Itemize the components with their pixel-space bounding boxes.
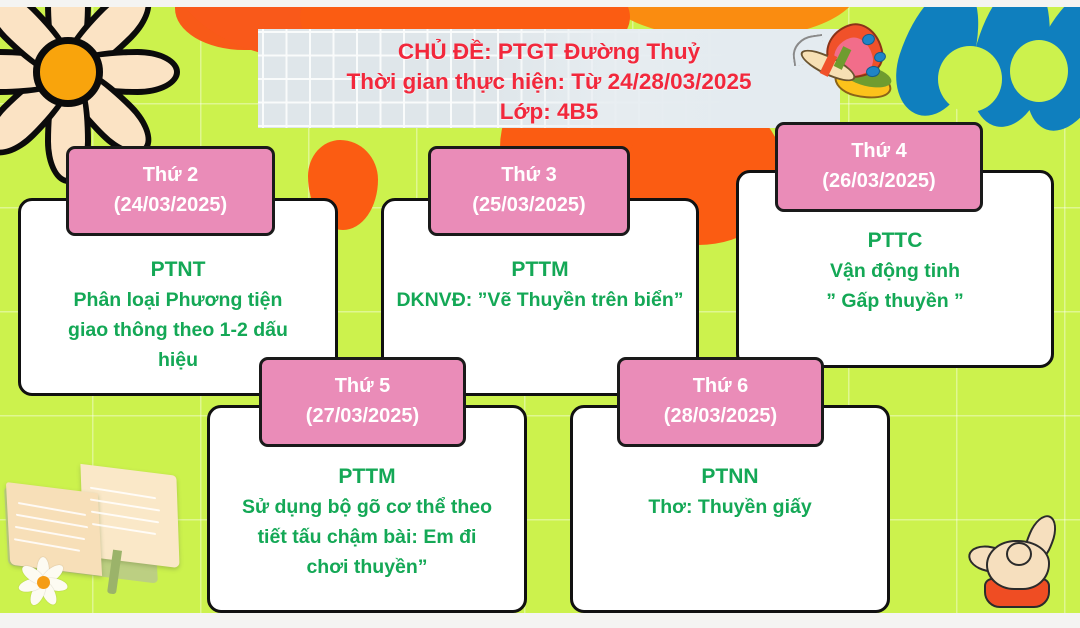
blue-petal-notch (938, 46, 1002, 112)
activity-title: PTNT (18, 255, 338, 285)
date-label: (27/03/2025) (262, 401, 463, 431)
day-card-content: PTTM DKNVĐ: ”Vẽ Thuyền trên biển” (375, 255, 705, 315)
open-book-icon (6, 466, 178, 586)
day-card-header-thu-2[interactable]: Thứ 2 (24/03/2025) (66, 146, 275, 236)
activity-line: ” Gấp thuyền ” (736, 286, 1054, 316)
day-label: Thứ 3 (431, 160, 627, 190)
banner-line-timeframe: Thời gian thực hiện: Từ 24/28/03/2025 (258, 67, 840, 97)
banner-line-class: Lớp: 4B5 (258, 97, 840, 127)
activity-line: chơi thuyền” (200, 552, 534, 582)
day-card-header-thu-6[interactable]: Thứ 6 (28/03/2025) (617, 357, 824, 447)
day-label: Thứ 5 (262, 371, 463, 401)
day-label: Thứ 2 (69, 160, 272, 190)
day-card-header-thu-3[interactable]: Thứ 3 (25/03/2025) (428, 146, 630, 236)
activity-line: DKNVĐ: ”Vẽ Thuyền trên biển” (375, 285, 705, 315)
activity-title: PTTM (375, 255, 705, 285)
bottom-edge-strip (0, 613, 1080, 628)
activity-title: PTTM (200, 462, 534, 492)
day-card-content: PTTC Vận động tinh ” Gấp thuyền ” (736, 226, 1054, 316)
activity-title: PTTC (736, 226, 1054, 256)
date-label: (25/03/2025) (431, 190, 627, 220)
banner-text-block: CHỦ ĐỀ: PTGT Đường Thuỷ Thời gian thực h… (258, 37, 840, 127)
title-banner: CHỦ ĐỀ: PTGT Đường Thuỷ Thời gian thực h… (258, 29, 840, 128)
activity-line: Sử dụng bộ gõ cơ thể theo (200, 492, 534, 522)
hand-knuckle (1006, 542, 1032, 566)
activity-title: PTNN (570, 462, 890, 492)
date-label: (26/03/2025) (778, 166, 980, 196)
slide-canvas: CHỦ ĐỀ: PTGT Đường Thuỷ Thời gian thực h… (0, 0, 1080, 628)
activity-line: Vận động tinh (736, 256, 1054, 286)
small-daisy-center (37, 576, 50, 589)
banner-line-topic: CHỦ ĐỀ: PTGT Đường Thuỷ (258, 37, 840, 67)
pointing-hand-icon (966, 512, 1074, 618)
day-label: Thứ 4 (778, 136, 980, 166)
day-card-content: PTTM Sử dụng bộ gõ cơ thể theo tiết tấu … (200, 462, 534, 582)
activity-line: Phân loại Phương tiện (18, 285, 338, 315)
daisy-center (33, 37, 103, 107)
date-label: (28/03/2025) (620, 401, 821, 431)
day-card-content: PTNN Thơ: Thuyền giấy (570, 462, 890, 522)
date-label: (24/03/2025) (69, 190, 272, 220)
activity-line: tiết tấu chậm bài: Em đi (200, 522, 534, 552)
day-label: Thứ 6 (620, 371, 821, 401)
day-card-header-thu-5[interactable]: Thứ 5 (27/03/2025) (259, 357, 466, 447)
butterfly-icon (786, 22, 898, 114)
blue-petal-notch (1010, 40, 1068, 102)
top-edge-strip (0, 0, 1080, 7)
activity-line: giao thông theo 1-2 dấu (18, 315, 338, 345)
day-card-header-thu-4[interactable]: Thứ 4 (26/03/2025) (775, 122, 983, 212)
activity-line: Thơ: Thuyền giấy (570, 492, 890, 522)
small-daisy-icon (14, 554, 72, 610)
